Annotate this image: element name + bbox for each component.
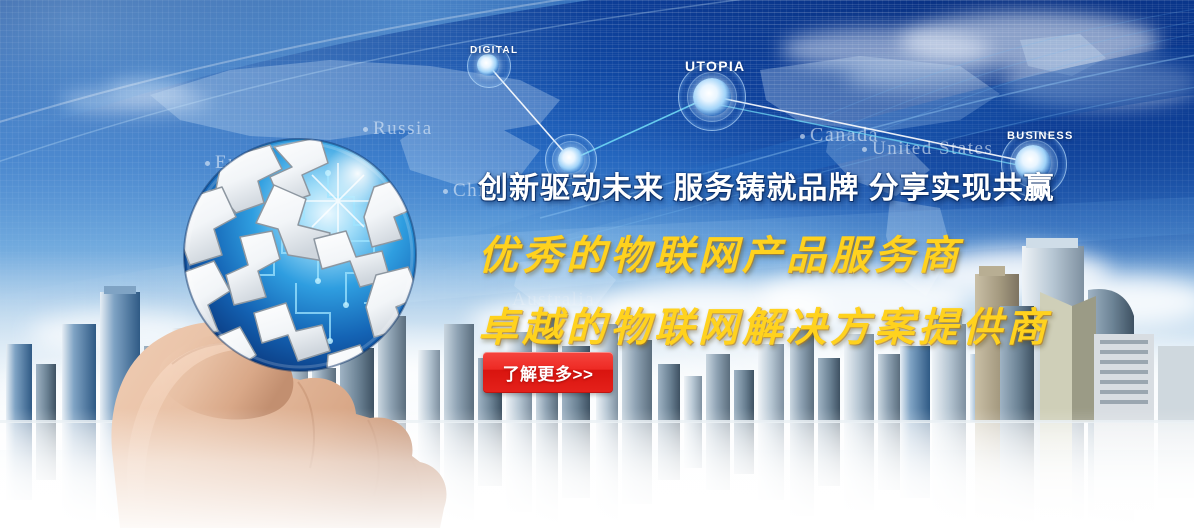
hero-banner: Russia Eu Chin Canada United States Aust… [0,0,1194,528]
globe-icon [178,133,422,377]
learn-more-button[interactable]: 了解更多>> [483,352,613,393]
slogan-line-2: 卓越的物联网解决方案提供商 [478,295,1098,353]
slogan-line-1: 优秀的物联网产品服务商 [478,223,1098,281]
page-title: 创新驱动未来 服务铸就品牌 分享实现共赢 [478,163,1098,207]
hero-copy-block: 创新驱动未来 服务铸就品牌 分享实现共赢 优秀的物联网产品服务商 卓越的物联网解… [478,163,1098,353]
